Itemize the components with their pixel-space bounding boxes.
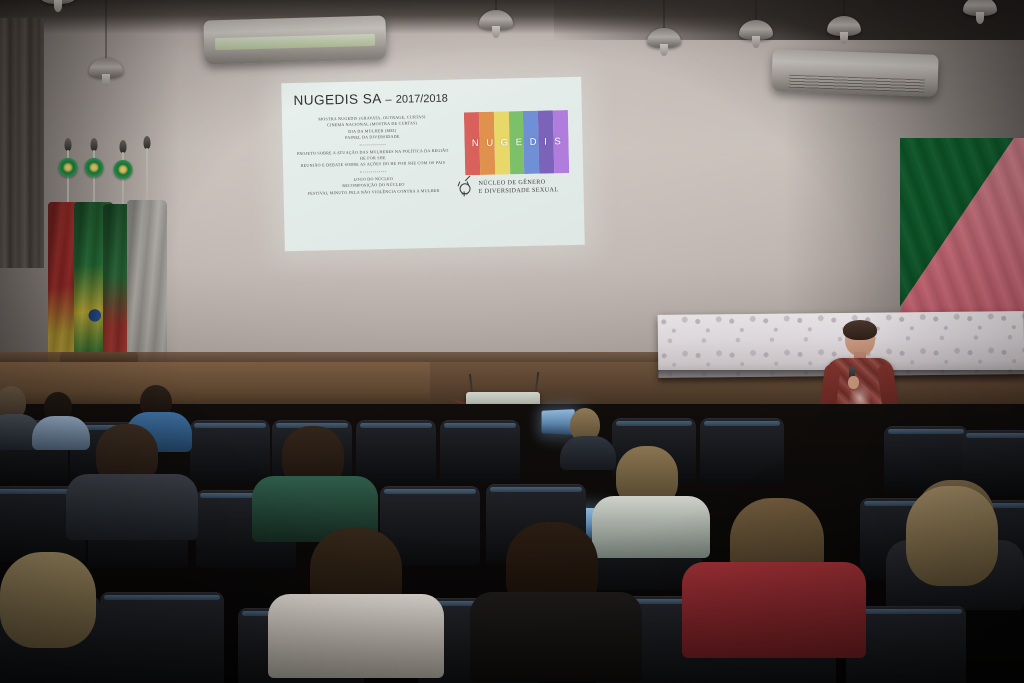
logo-letter: I <box>544 137 547 148</box>
pendant-lamp-5 <box>738 0 774 48</box>
attendee-shoulders <box>560 436 616 470</box>
ac-unit-right <box>771 49 938 97</box>
pendant-lamp-1 <box>88 0 124 86</box>
lamp-bulb <box>54 0 62 12</box>
logo-caption: NÚCLEO DE GÊNERO E DIVERSIDADE SEXUAL <box>457 177 573 197</box>
seat[interactable] <box>100 592 224 683</box>
slide-separator <box>360 171 386 173</box>
attendee-shoulders <box>592 496 710 558</box>
attendee-head <box>0 552 96 648</box>
projected-slide: NUGEDIS SA – 2017/2018 MOSTRA NUGEDIS (G… <box>281 77 585 252</box>
slide-title-main: NUGEDIS SA <box>293 91 381 108</box>
attendee-shoulders <box>66 474 198 540</box>
pendant-lamp-2 <box>40 0 76 12</box>
attendee-head <box>906 486 998 586</box>
pendant-lamp-6 <box>826 0 862 44</box>
slide-title-year: 2017/2018 <box>396 93 448 106</box>
attendee-shoulders <box>470 592 642 682</box>
seat[interactable] <box>190 420 270 484</box>
flag-institutional-white <box>130 148 164 353</box>
logo-letter: N <box>472 138 480 149</box>
gender-symbol-icon <box>457 179 474 196</box>
attendee-shoulders <box>268 594 444 678</box>
ac-vents <box>788 75 924 92</box>
lamp-bulb <box>840 32 848 44</box>
seat[interactable] <box>356 420 436 484</box>
nugedis-logo-letters: N U G E D I S <box>464 110 569 175</box>
drape-folds <box>900 138 1024 326</box>
attendee-shoulders <box>32 416 90 450</box>
lamp-bulb <box>492 26 500 38</box>
seat[interactable] <box>440 420 520 484</box>
logo-letter: G <box>501 137 509 148</box>
flag-rosette <box>85 158 104 177</box>
pendant-lamp-7 <box>962 0 998 24</box>
slide-body: MOSTRA NUGEDIS (GRAVATA, OUTRAGE, CURTAS… <box>288 113 458 197</box>
stage-drape <box>900 138 1024 326</box>
lamp-bulb <box>976 12 984 24</box>
ac-light-strip <box>215 34 375 50</box>
pendant-lamp-4 <box>646 0 682 56</box>
logo-letter: U <box>486 138 494 149</box>
logo-letter: S <box>554 136 561 147</box>
ac-unit-left <box>203 15 386 64</box>
seat[interactable] <box>700 418 784 484</box>
auditorium-scene: NUGEDIS SA – 2017/2018 MOSTRA NUGEDIS (G… <box>0 0 1024 683</box>
side-curtain <box>0 18 44 268</box>
logo-caption-line2: E DIVERSIDADE SEXUAL <box>479 186 559 196</box>
lamp-bulb <box>752 36 760 48</box>
pendant-lamp-3 <box>478 0 514 38</box>
presenter-hair <box>843 320 877 340</box>
slide-title-dash: – <box>385 94 391 106</box>
attendee-shoulders <box>682 562 866 658</box>
lamp-bulb <box>660 44 668 56</box>
logo-letter: E <box>516 137 523 148</box>
slide-title: NUGEDIS SA – 2017/2018 <box>293 90 447 108</box>
lamp-bulb <box>102 74 110 86</box>
slide-separator <box>360 144 386 146</box>
presenter-hand <box>848 376 859 389</box>
logo-letter: D <box>530 137 538 148</box>
